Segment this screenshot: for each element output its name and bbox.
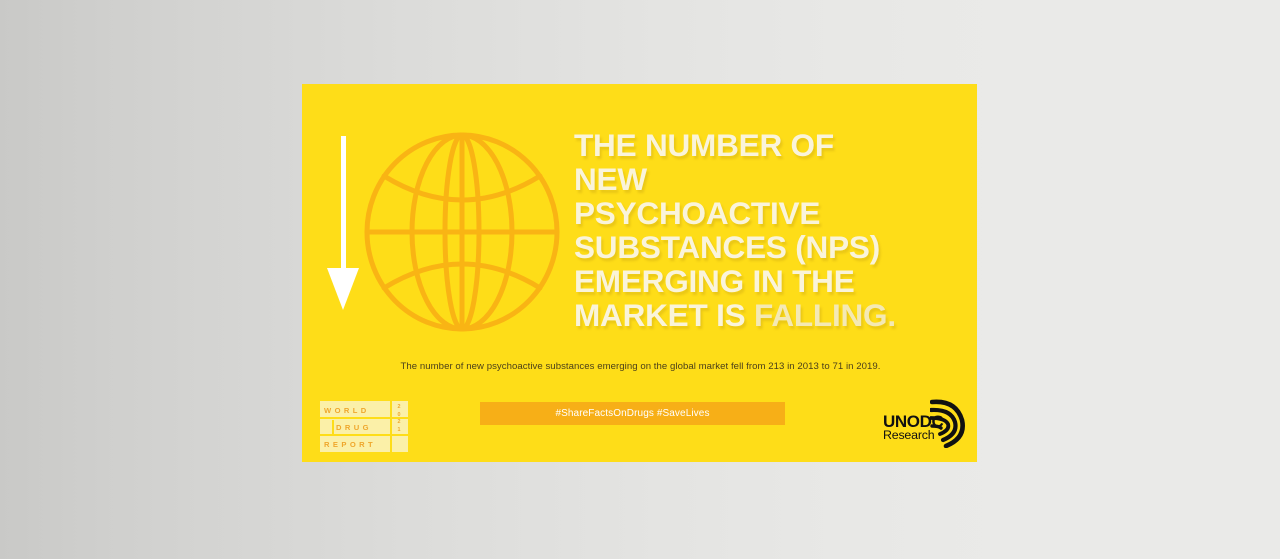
- headline-nps-abbrev: (NPS): [795, 229, 880, 265]
- hashtag-label: #ShareFactsOnDrugs #SaveLives: [555, 408, 709, 419]
- globe-icon: [364, 132, 560, 332]
- wdr-logo-inner-divider: [332, 420, 334, 435]
- wdr-logo-year-digit-4: 1: [398, 427, 401, 435]
- page-title: THE NUMBER OF NEW PSYCHOACTIVE SUBSTANCE…: [574, 128, 966, 332]
- wdr-logo-year-digit-3: 2: [398, 419, 401, 427]
- arrow-head: [327, 268, 359, 310]
- headline-line-5: EMERGING IN THE: [574, 264, 966, 298]
- wdr-logo-row-drug-label: DRUG: [336, 423, 372, 432]
- infographic-card: THE NUMBER OF NEW PSYCHOACTIVE SUBSTANCE…: [302, 84, 977, 462]
- fingerprint-arcs-icon: [930, 396, 970, 448]
- down-arrow-icon: [324, 136, 364, 311]
- wdr-logo-year-digit-2: 0: [398, 412, 401, 420]
- wdr-logo-row-report-label: REPORT: [324, 440, 376, 449]
- infographic-stage: THE NUMBER OF NEW PSYCHOACTIVE SUBSTANCE…: [0, 0, 1280, 559]
- body-description: The number of new psychoactive substance…: [358, 359, 923, 374]
- headline-line-4: SUBSTANCES (NPS): [574, 230, 966, 264]
- headline-line-6-main: MARKET IS: [574, 297, 754, 333]
- wdr-logo-year-digit-1: 2: [398, 404, 401, 412]
- headline-line-6: MARKET IS FALLING.: [574, 298, 966, 332]
- wdr-logo-row-world-label: WORLD: [324, 406, 370, 415]
- headline-line-4-main: SUBSTANCES: [574, 229, 795, 265]
- headline-line-3: PSYCHOACTIVE: [574, 196, 966, 230]
- headline-line-2: NEW: [574, 162, 966, 196]
- unodc-logo-subtitle: Research: [883, 428, 934, 442]
- headline-emphasis-falling: FALLING.: [754, 297, 896, 333]
- wdr-logo-vertical-divider: [390, 401, 392, 452]
- unodc-research-logo: UNODC Research: [880, 396, 965, 451]
- headline-line-1: THE NUMBER OF: [574, 128, 966, 162]
- hashtag-banner[interactable]: #ShareFactsOnDrugs #SaveLives: [480, 402, 785, 425]
- world-drug-report-logo: WORLD DRUG REPORT 2 0 2 1: [320, 401, 408, 452]
- wdr-logo-row-report: REPORT: [320, 437, 408, 452]
- arrow-shaft: [341, 136, 346, 276]
- wdr-logo-year: 2 0 2 1: [393, 404, 405, 434]
